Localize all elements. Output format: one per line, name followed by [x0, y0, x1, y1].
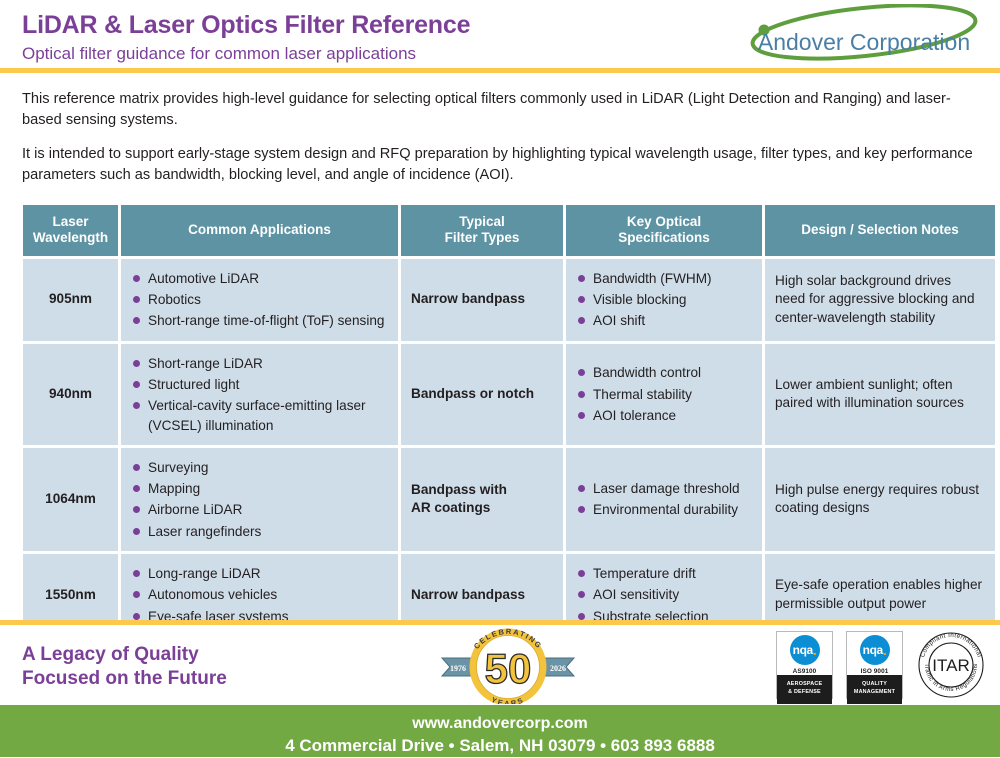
filter-reference-table: Laser Wavelength Common Applications Typ… — [20, 202, 998, 639]
nqa-sector: QUALITY MANAGEMENT — [847, 675, 902, 704]
nqa-logo-icon: nqa. — [860, 635, 890, 665]
nqa-dot-icon: . — [883, 646, 887, 654]
list-item: Laser rangefinders — [131, 522, 388, 541]
cell-notes: Lower ambient sunlight; often paired wit… — [765, 344, 995, 445]
itar-center-label: ITAR — [932, 656, 969, 675]
list-item: Robotics — [131, 290, 388, 309]
filter-types-line-1: Bandpass with — [411, 482, 507, 497]
legacy-tagline: A Legacy of Quality Focused on the Futur… — [22, 643, 227, 692]
list-item: Structured light — [131, 375, 388, 394]
list-item: AOI sensitivity — [576, 585, 752, 604]
list-item: Thermal stability — [576, 385, 752, 404]
anniversary-number: 50 — [485, 645, 532, 692]
andover-corporation-logo: Andover Corporation — [742, 4, 982, 66]
cell-filter-types: Narrow bandpass — [401, 259, 563, 341]
intro-section: This reference matrix provides high-leve… — [0, 73, 1000, 186]
list-item: Bandwidth (FWHM) — [576, 269, 752, 288]
nqa-as9100-badge: nqa. AS9100 AEROSPACE & DEFENSE — [776, 631, 833, 699]
table-header-row: Laser Wavelength Common Applications Typ… — [23, 205, 995, 256]
list-item: Autonomous vehicles — [131, 585, 388, 604]
cell-specifications: Bandwidth control Thermal stability AOI … — [566, 344, 762, 445]
nqa-iso9001-badge: nqa. ISO 9001 QUALITY MANAGEMENT — [846, 631, 903, 699]
cell-specifications: Bandwidth (FWHM) Visible blocking AOI sh… — [566, 259, 762, 341]
nqa-logo-icon: nqa. — [790, 635, 820, 665]
table-row: 1064nm Surveying Mapping Airborne LiDAR … — [23, 448, 995, 551]
footer-website[interactable]: www.andovercorp.com — [0, 713, 1000, 734]
column-header-typical-filter-types: Typical Filter Types — [401, 205, 563, 256]
footer-contact-bar: www.andovercorp.com 4 Commercial Drive •… — [0, 705, 1000, 757]
nqa-mark: nqa — [793, 643, 813, 657]
table-row: 905nm Automotive LiDAR Robotics Short-ra… — [23, 259, 995, 341]
cell-wavelength: 905nm — [23, 259, 118, 341]
cell-wavelength: 940nm — [23, 344, 118, 445]
filter-reference-table-wrapper: Laser Wavelength Common Applications Typ… — [20, 202, 980, 639]
header-line-1: Typical — [459, 214, 505, 229]
list-item: AOI shift — [576, 311, 752, 330]
list-item: Vertical-cavity surface-emitting laser (… — [131, 396, 388, 435]
nqa-standard: ISO 9001 — [861, 668, 889, 675]
cell-specifications: Laser damage threshold Environmental dur… — [566, 448, 762, 551]
header-line-1: Laser — [52, 214, 88, 229]
list-item: Short-range time-of-flight (ToF) sensing — [131, 311, 388, 330]
cell-applications: Automotive LiDAR Robotics Short-range ti… — [121, 259, 398, 341]
cell-filter-types: Bandpass with AR coatings — [401, 448, 563, 551]
list-item: Mapping — [131, 479, 388, 498]
filter-types-line-2: AR coatings — [411, 500, 490, 515]
nqa-sector: AEROSPACE & DEFENSE — [777, 675, 832, 704]
table-row: 940nm Short-range LiDAR Structured light… — [23, 344, 995, 445]
header-line-2: Filter Types — [445, 230, 520, 245]
nqa-sector-line-2: MANAGEMENT — [849, 689, 900, 697]
column-header-laser-wavelength: Laser Wavelength — [23, 205, 118, 256]
list-item: Temperature drift — [576, 564, 752, 583]
column-header-design-selection-notes: Design / Selection Notes — [765, 205, 995, 256]
list-item: Short-range LiDAR — [131, 354, 388, 373]
header-line-2: Specifications — [618, 230, 710, 245]
header-line-2: Wavelength — [33, 230, 108, 245]
logo-wordmark: Andover Corporation — [758, 29, 970, 55]
svg-text:YEARS: YEARS — [490, 695, 526, 704]
list-item: Surveying — [131, 458, 388, 477]
legacy-line-1: A Legacy of Quality — [22, 643, 227, 667]
cell-notes: High pulse energy requires robust coatin… — [765, 448, 995, 551]
nqa-sector-line-2: & DEFENSE — [779, 689, 830, 697]
cell-applications: Short-range LiDAR Structured light Verti… — [121, 344, 398, 445]
footer-address: 4 Commercial Drive • Salem, NH 03079 • 6… — [0, 735, 1000, 758]
nqa-standard: AS9100 — [793, 668, 817, 675]
list-item: Automotive LiDAR — [131, 269, 388, 288]
cell-applications: Surveying Mapping Airborne LiDAR Laser r… — [121, 448, 398, 551]
nqa-mark: nqa — [863, 643, 883, 657]
legacy-line-2: Focused on the Future — [22, 667, 227, 691]
anniversary-50-badge-icon: 1976 2026 CELEBRATING YEARS 50 — [440, 628, 575, 704]
intro-paragraph-1: This reference matrix provides high-leve… — [22, 89, 974, 130]
cell-notes: High solar background drives need for ag… — [765, 259, 995, 341]
list-item: Visible blocking — [576, 290, 752, 309]
anniversary-arc-bottom: YEARS — [490, 695, 526, 704]
nqa-sector-line-1: AEROSPACE — [779, 681, 830, 689]
column-header-common-applications: Common Applications — [121, 205, 398, 256]
nqa-sector-line-1: QUALITY — [849, 681, 900, 689]
list-item: AOI tolerance — [576, 406, 752, 425]
list-item: Environmental durability — [576, 500, 752, 519]
itar-arc-top: Compliant International — [919, 632, 983, 658]
list-item: Airborne LiDAR — [131, 500, 388, 519]
column-header-key-optical-specifications: Key Optical Specifications — [566, 205, 762, 256]
nqa-dot-icon: . — [813, 646, 817, 654]
certification-badges: nqa. AS9100 AEROSPACE & DEFENSE nqa. ISO… — [776, 630, 986, 700]
list-item: Bandwidth control — [576, 363, 752, 382]
page-header: LiDAR & Laser Optics Filter Reference Op… — [0, 0, 1000, 68]
brand-band: A Legacy of Quality Focused on the Futur… — [0, 625, 1000, 705]
anniversary-year-start: 1976 — [450, 664, 466, 673]
cell-filter-types: Bandpass or notch — [401, 344, 563, 445]
list-item: Long-range LiDAR — [131, 564, 388, 583]
list-item: Laser damage threshold — [576, 479, 752, 498]
svg-text:Compliant International: Compliant International — [919, 632, 983, 658]
itar-compliant-badge-icon: Compliant International Traffic in Arms … — [916, 630, 986, 700]
intro-paragraph-2: It is intended to support early-stage sy… — [22, 144, 974, 185]
header-line-1: Key Optical — [627, 214, 701, 229]
cell-wavelength: 1064nm — [23, 448, 118, 551]
anniversary-year-end: 2026 — [550, 664, 566, 673]
